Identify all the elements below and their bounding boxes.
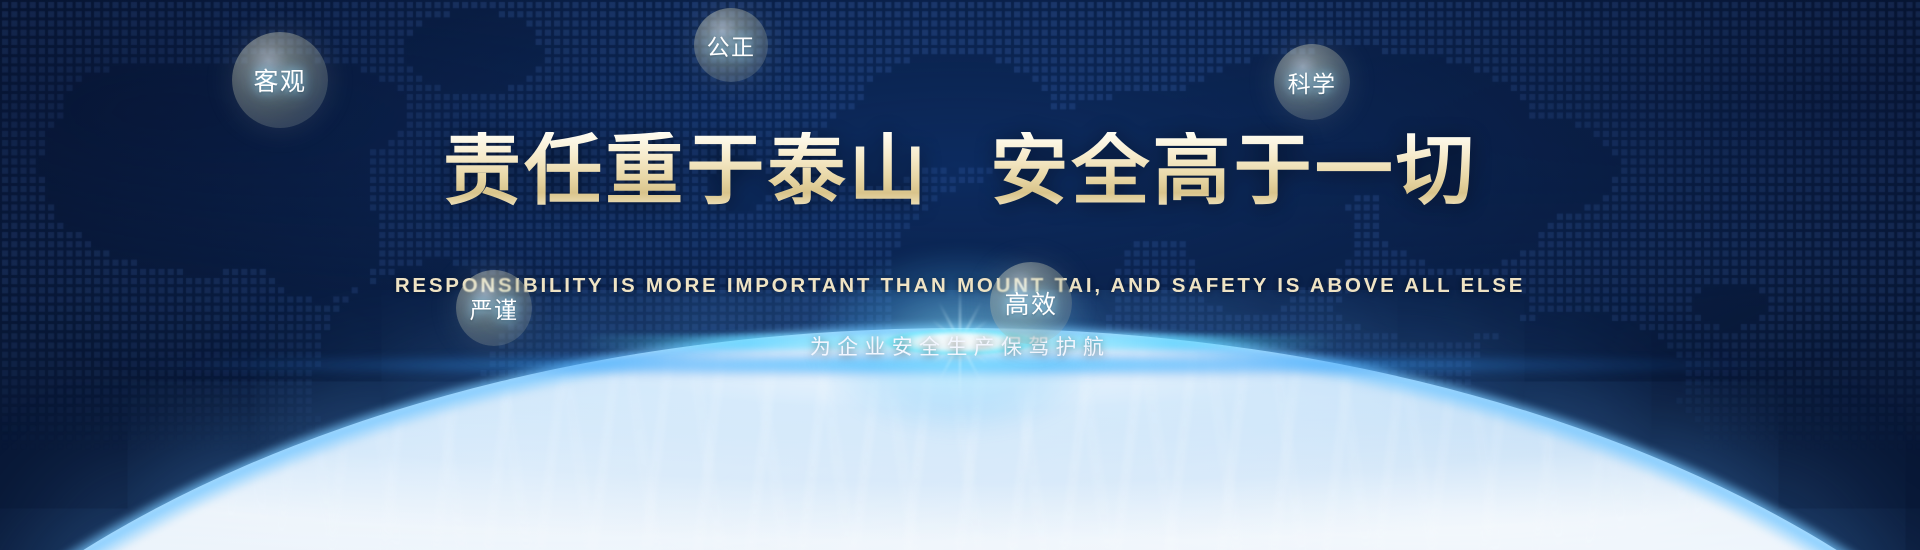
value-badge-label: 高效 <box>1004 285 1057 321</box>
page-title: 责任重于泰山 安全高于一切 <box>0 132 1920 210</box>
value-badge-4: 高效 <box>990 262 1072 344</box>
earth-horizon <box>0 290 1920 550</box>
subtitle-english: RESPONSIBILITY IS MORE IMPORTANT THAN MO… <box>0 274 1920 298</box>
subtitle-chinese: 为企业安全生产保驾护航 <box>0 331 1920 361</box>
value-badge-1: 公正 <box>694 8 768 82</box>
value-badge-label: 严谨 <box>470 291 519 325</box>
earth-sphere <box>0 328 1920 550</box>
value-badge-label: 公正 <box>707 28 756 62</box>
value-badge-label: 科学 <box>1288 65 1337 99</box>
value-badge-2: 科学 <box>1274 44 1350 120</box>
value-badge-0: 客观 <box>232 32 328 128</box>
value-badge-label: 客观 <box>253 62 306 98</box>
hero-banner: 责任重于泰山 安全高于一切 RESPONSIBILITY IS MORE IMP… <box>0 0 1920 550</box>
value-badge-3: 严谨 <box>456 270 532 346</box>
earth-cloud-texture <box>0 334 1920 550</box>
